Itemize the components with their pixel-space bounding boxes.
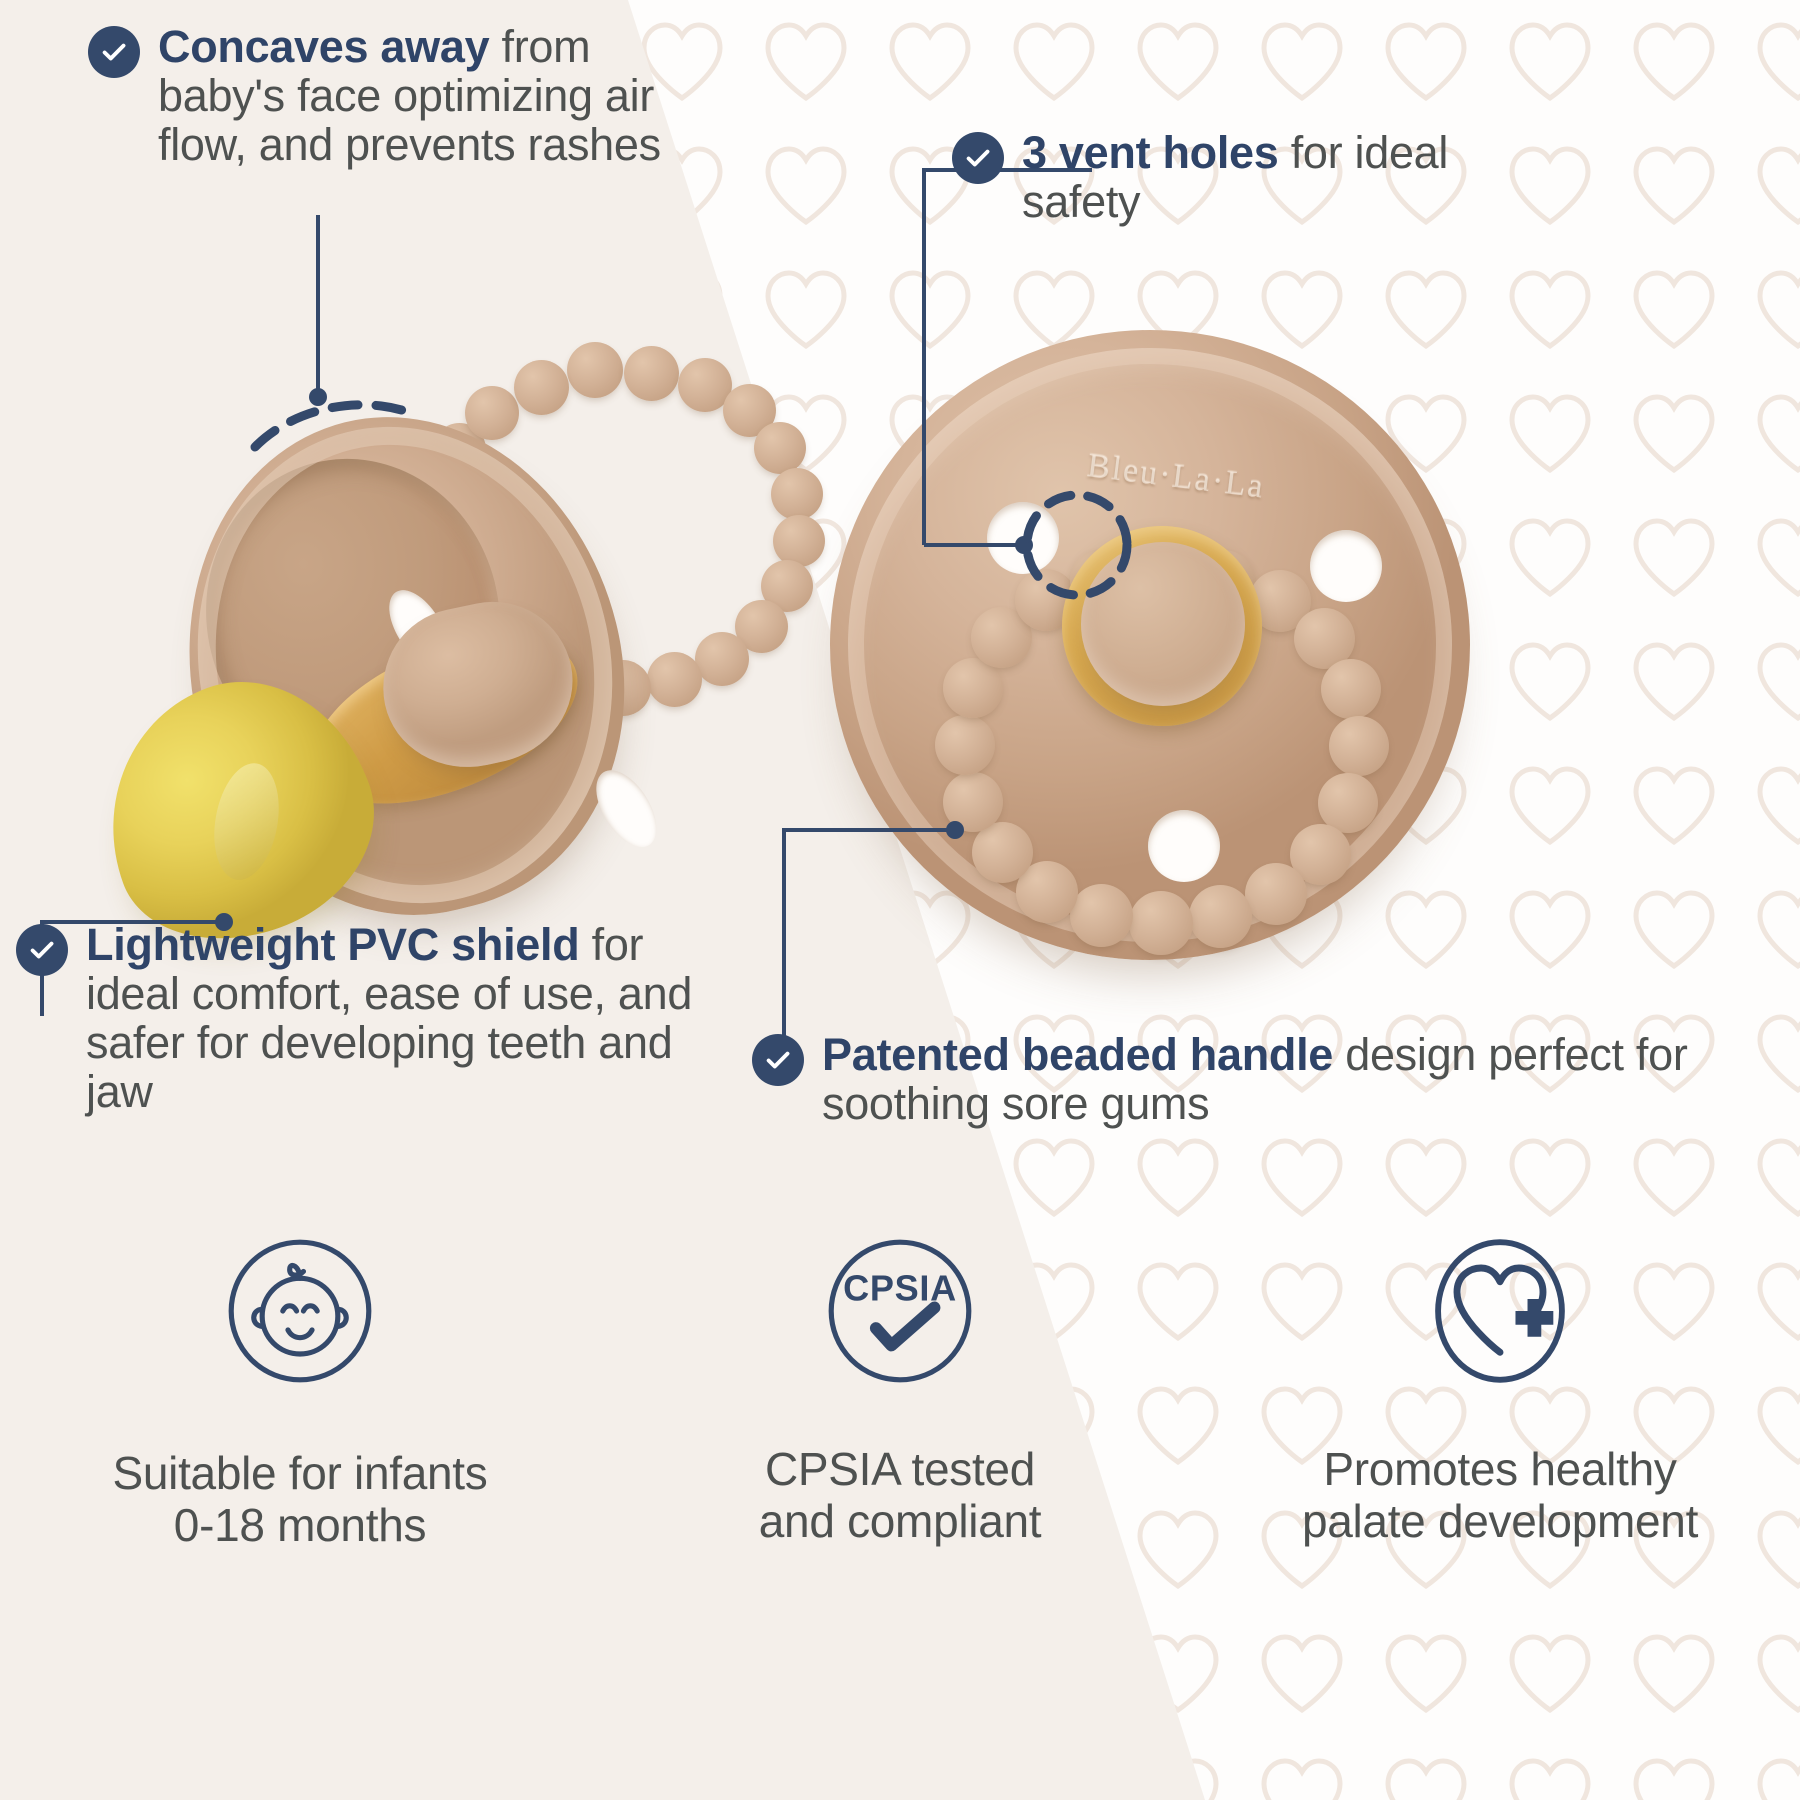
feature-infant-age: Suitable for infants 0-18 months	[0, 1225, 600, 1785]
feature-palate-development: Promotes healthy palate development	[1200, 1225, 1800, 1785]
svg-text:CPSIA: CPSIA	[843, 1268, 957, 1309]
callout-vent-holes: 3 vent holes for ideal safety	[952, 128, 1472, 226]
callout-text: Patented beaded handle design perfect fo…	[822, 1030, 1792, 1128]
nipple-highlight	[206, 758, 288, 885]
heart-plus-icon	[1414, 1225, 1586, 1397]
leader-line-beaded-handle	[780, 820, 1010, 1060]
callout-bold: Concaves away	[158, 21, 489, 72]
feature-label: Promotes healthy palate development	[1302, 1443, 1698, 1548]
callout-text: 3 vent holes for ideal safety	[1022, 128, 1472, 226]
callout-bold: 3 vent holes	[1022, 127, 1279, 178]
feature-label: Suitable for infants 0-18 months	[112, 1447, 487, 1552]
callout-pvc-shield: Lightweight PVC shield for ideal comfort…	[16, 920, 716, 1116]
leader-line-concaves	[300, 215, 620, 475]
callout-text: Concaves away from baby's face optimizin…	[158, 22, 688, 169]
callout-concaves-away: Concaves away from baby's face optimizin…	[88, 22, 688, 169]
check-circle-icon	[88, 26, 140, 78]
infographic-canvas: Bleu·La·La	[0, 0, 1800, 1800]
vent-hole	[584, 760, 669, 857]
check-circle-icon	[752, 1034, 804, 1086]
feature-badges-row: Suitable for infants 0-18 months CPSIA C…	[0, 1225, 1800, 1785]
cpsia-badge-icon: CPSIA	[814, 1225, 986, 1397]
callout-bold: Lightweight PVC shield	[86, 919, 579, 970]
feature-label: CPSIA tested and compliant	[759, 1443, 1042, 1548]
feature-cpsia: CPSIA CPSIA tested and compliant	[600, 1225, 1200, 1785]
baby-face-icon	[214, 1225, 386, 1397]
callout-bold: Patented beaded handle	[822, 1029, 1333, 1080]
check-circle-icon	[16, 924, 68, 976]
callout-beaded-handle: Patented beaded handle design perfect fo…	[752, 1030, 1792, 1128]
callout-text: Lightweight PVC shield for ideal comfort…	[86, 920, 716, 1116]
check-circle-icon	[952, 132, 1004, 184]
